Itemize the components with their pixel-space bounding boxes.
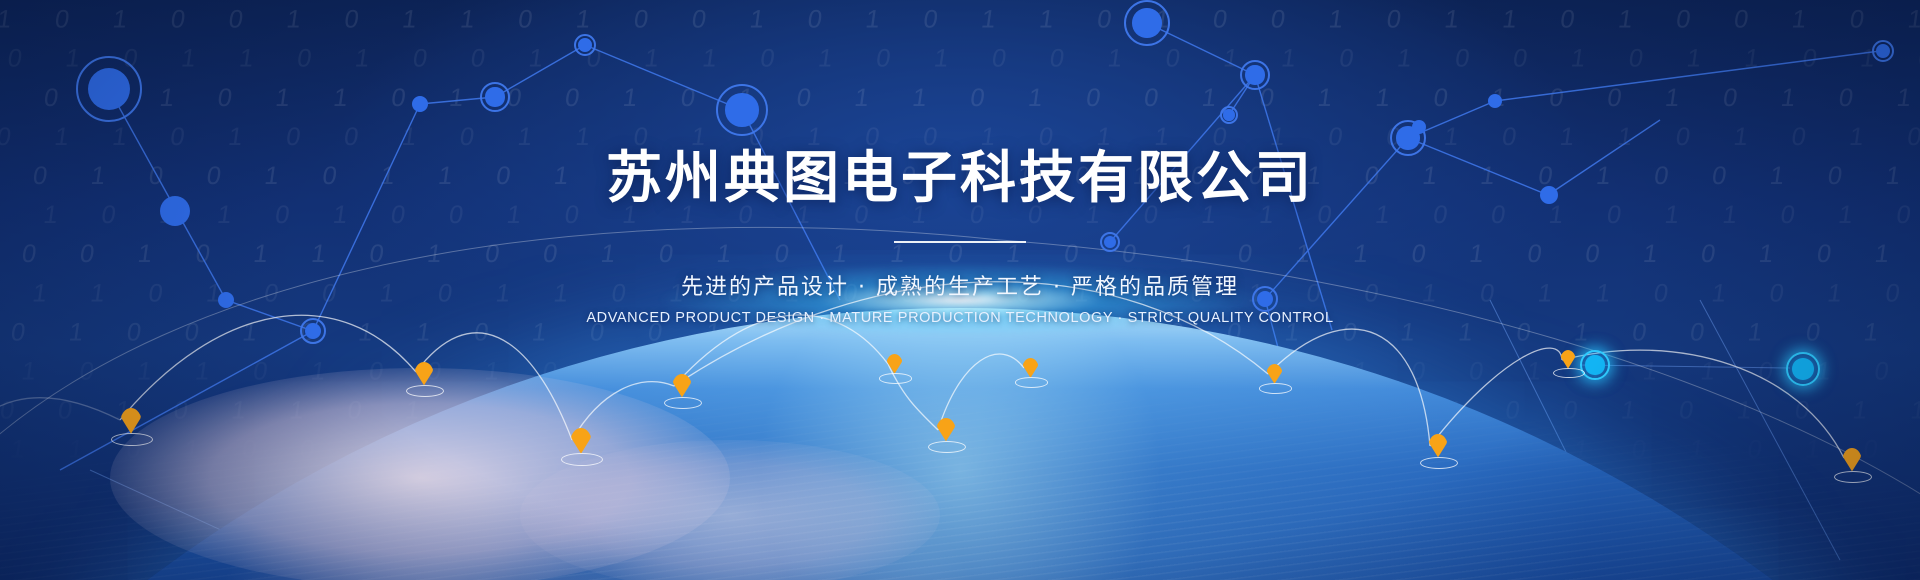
subtitle-english: ADVANCED PRODUCT DESIGN · MATURE PRODUCT… (0, 310, 1920, 326)
company-hero-banner: 1 0 1 0 0 1 0 1 1 0 1 0 0 1 0 1 0 1 1 0 … (0, 0, 1920, 580)
company-title: 苏州典图电子科技有限公司 (0, 0, 1920, 214)
subtitle-chinese: 先进的产品设计 · 成熟的生产工艺 · 严格的品质管理 (0, 269, 1920, 301)
hero-text-block: 苏州典图电子科技有限公司 先进的产品设计 · 成熟的生产工艺 · 严格的品质管理… (0, 0, 1920, 326)
globe-sphere (0, 308, 1920, 580)
title-divider (894, 241, 1026, 243)
